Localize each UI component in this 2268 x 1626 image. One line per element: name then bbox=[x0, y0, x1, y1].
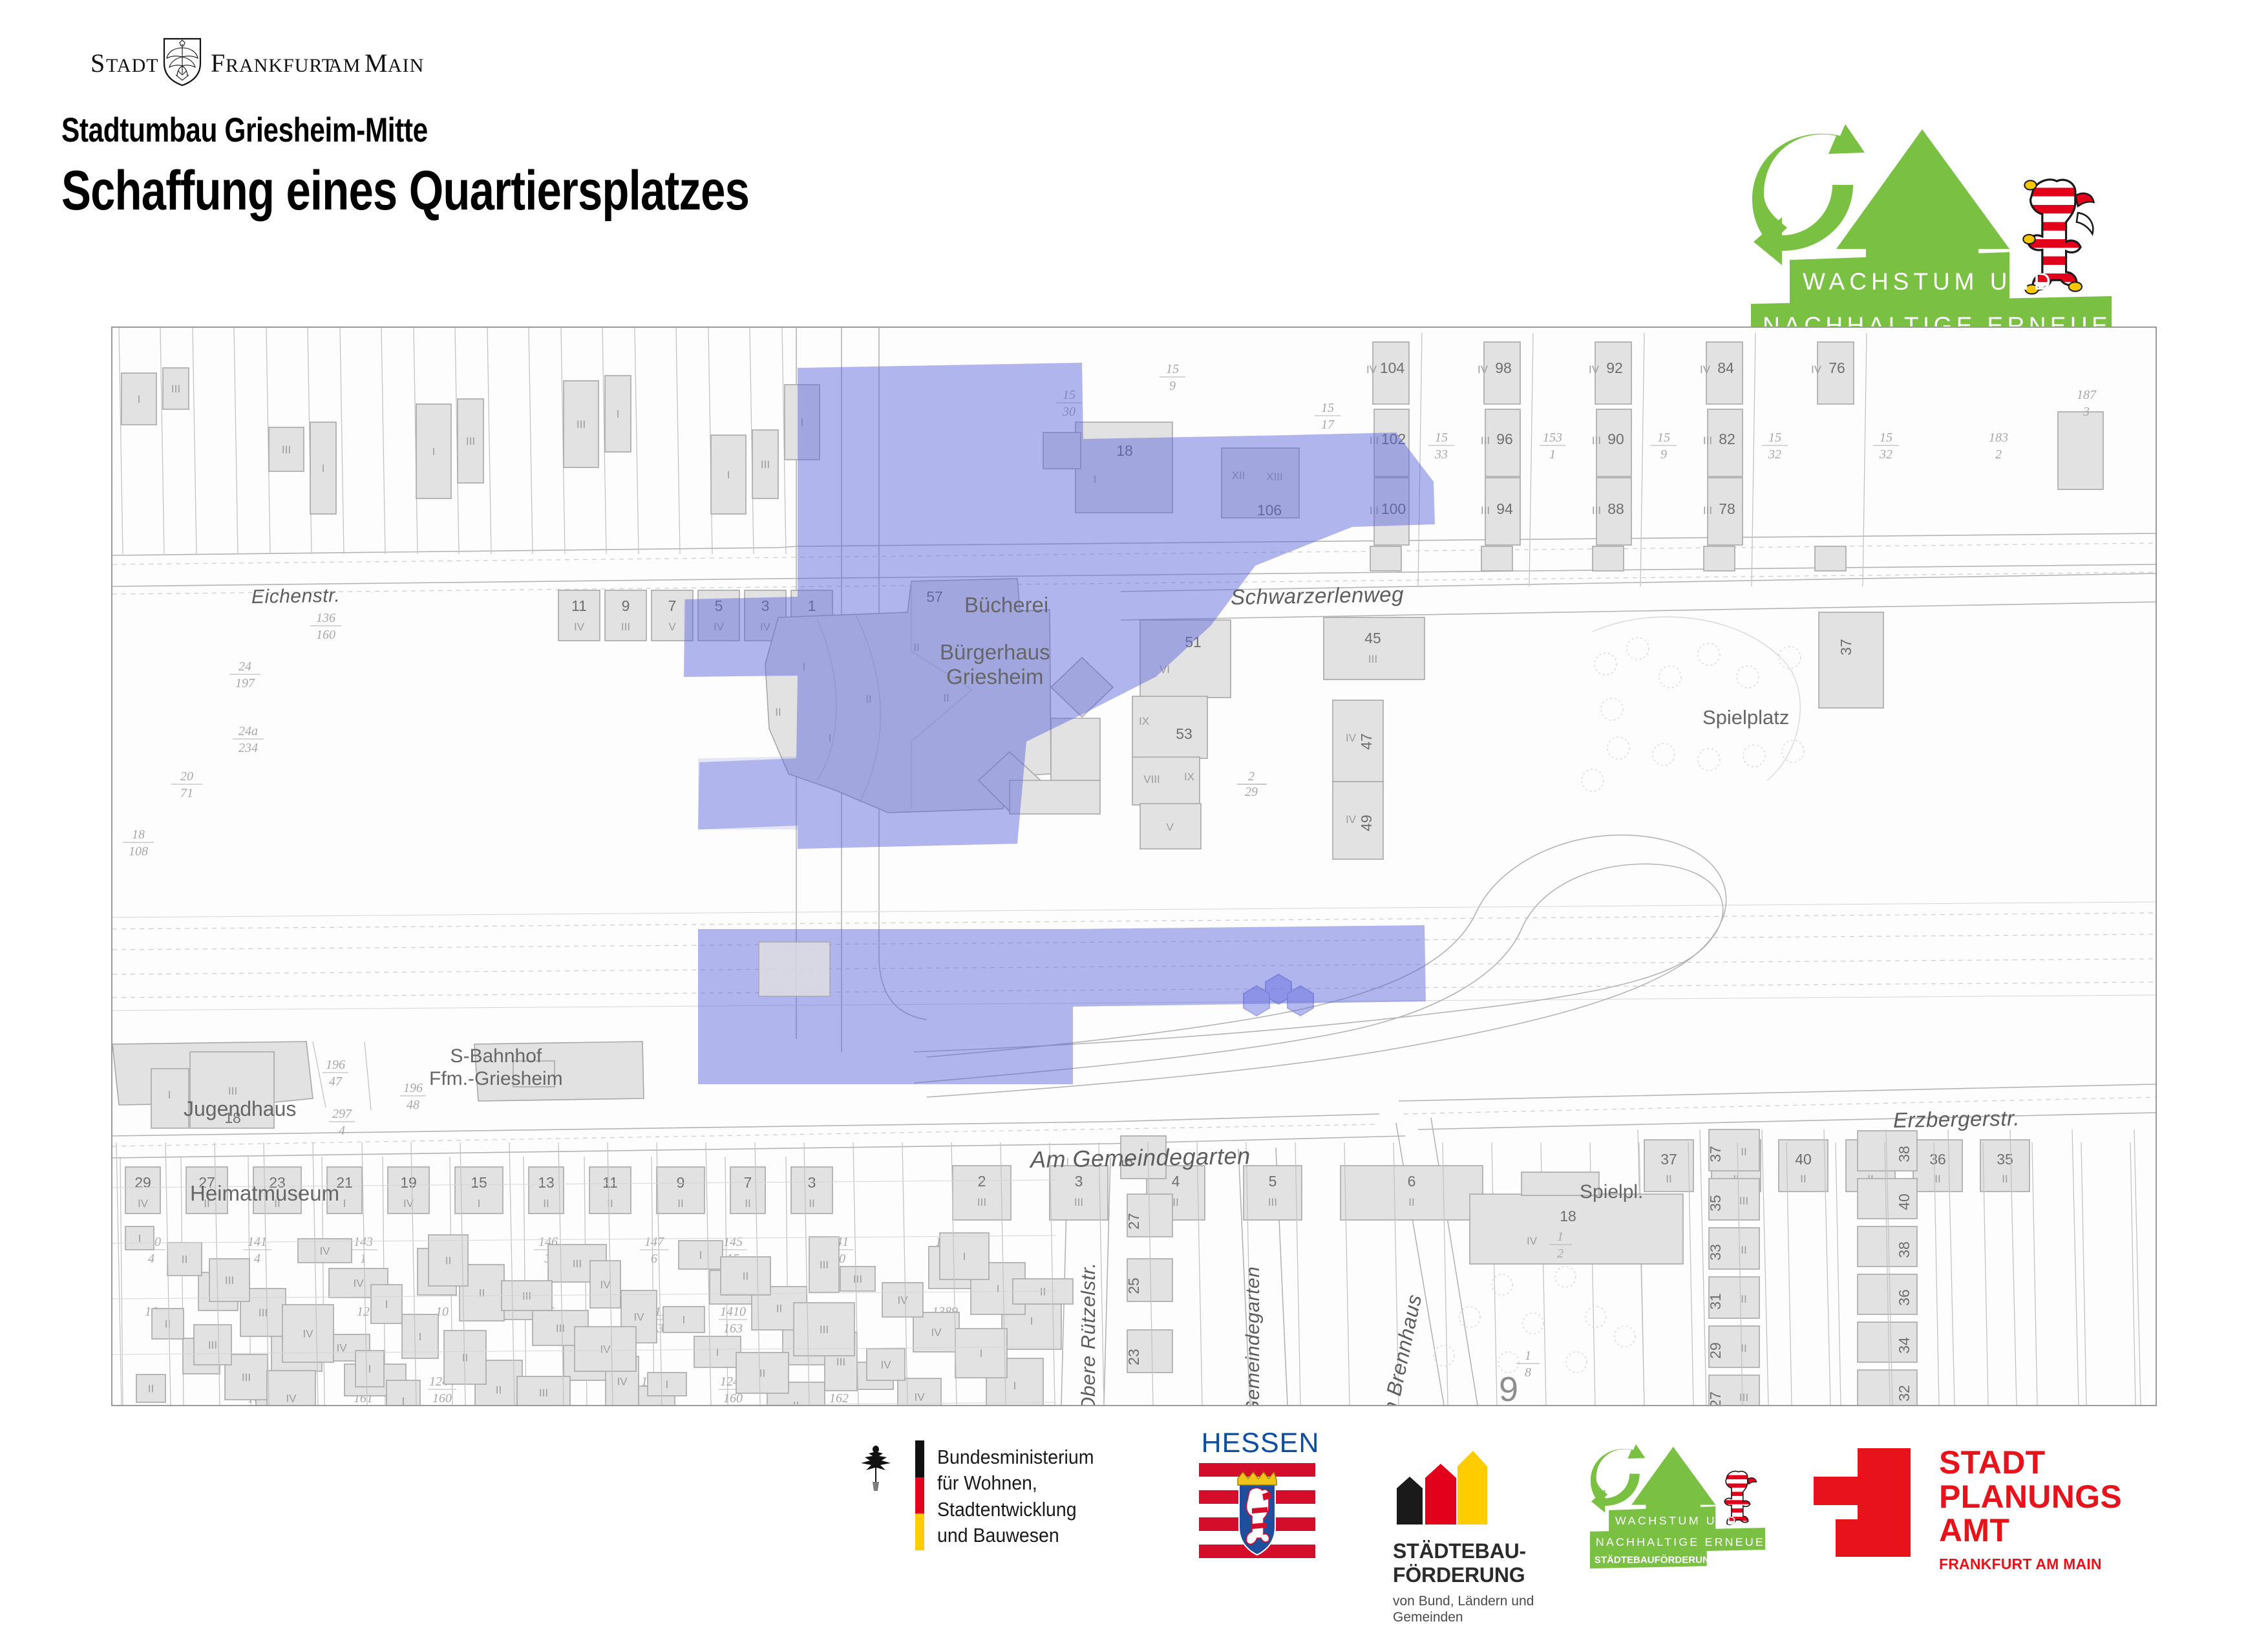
bundesadler-icon bbox=[853, 1442, 898, 1499]
svg-text:38: 38 bbox=[1896, 1241, 1913, 1258]
svg-text:III: III bbox=[259, 1307, 268, 1319]
svg-text:AM: AM bbox=[328, 55, 361, 76]
svg-text:71: 71 bbox=[180, 786, 193, 800]
bm-line3: und Bauwesen bbox=[937, 1523, 1169, 1548]
svg-text:147: 147 bbox=[644, 1235, 664, 1249]
poi-label-spielplatz: Spielplatz bbox=[1702, 706, 1789, 729]
sbf-title-line1: STÄDTEBAU- bbox=[1393, 1539, 1580, 1563]
svg-text:IV: IV bbox=[1700, 363, 1711, 376]
svg-text:I: I bbox=[343, 1197, 346, 1210]
svg-text:III: III bbox=[853, 1273, 862, 1285]
svg-text:IV: IV bbox=[353, 1278, 364, 1290]
svg-text:I: I bbox=[980, 1347, 983, 1360]
svg-text:III: III bbox=[171, 383, 180, 395]
spa-sub: FRANKFURT AM MAIN bbox=[1939, 1556, 2122, 1572]
svg-text:II: II bbox=[165, 1318, 171, 1331]
svg-text:I: I bbox=[963, 1250, 966, 1263]
map-canvas[interactable]: .pn { font-family:"Liberation Serif", se… bbox=[112, 328, 2156, 1405]
svg-text:II: II bbox=[793, 1400, 799, 1406]
svg-text:III: III bbox=[1592, 504, 1601, 517]
svg-text:II: II bbox=[1741, 1146, 1746, 1158]
svg-text:5: 5 bbox=[1269, 1173, 1277, 1190]
svg-text:F: F bbox=[211, 48, 225, 78]
svg-text:I: I bbox=[322, 462, 325, 475]
svg-text:25: 25 bbox=[1125, 1278, 1142, 1294]
svg-text:II: II bbox=[607, 1197, 613, 1210]
svg-text:76: 76 bbox=[1828, 359, 1845, 376]
program-banner-1: WACHSTUM UND bbox=[1790, 252, 2055, 305]
svg-text:IV: IV bbox=[1527, 1235, 1538, 1247]
svg-text:13: 13 bbox=[538, 1174, 555, 1191]
svg-text:3: 3 bbox=[1075, 1173, 1083, 1190]
svg-text:III: III bbox=[977, 1196, 986, 1208]
svg-text:2: 2 bbox=[1557, 1246, 1563, 1261]
svg-text:33: 33 bbox=[1434, 447, 1448, 462]
svg-text:9: 9 bbox=[1499, 1370, 1518, 1405]
svg-text:34: 34 bbox=[1896, 1337, 1913, 1354]
svg-text:I: I bbox=[432, 445, 436, 458]
svg-text:III: III bbox=[1481, 504, 1490, 517]
svg-text:III: III bbox=[556, 1322, 565, 1334]
svg-text:88: 88 bbox=[1607, 500, 1624, 517]
svg-text:III: III bbox=[836, 1356, 845, 1368]
svg-text:III: III bbox=[1074, 1196, 1083, 1208]
sbf-title-line2: FÖRDERUNG bbox=[1393, 1563, 1580, 1587]
svg-text:III: III bbox=[1368, 653, 1377, 665]
svg-text:84: 84 bbox=[1717, 359, 1734, 376]
poi-label-heimatmuseum: Heimatmuseum bbox=[190, 1181, 339, 1206]
logo-wachstum-footer: WACHSTUM UND NACHHALTIGE ERNEUERUNG STÄD… bbox=[1590, 1442, 1810, 1574]
logo-hessen: HESSEN bbox=[1199, 1428, 1322, 1563]
bm-line2: für Wohnen, Stadtentwicklung bbox=[937, 1470, 1169, 1523]
svg-text:78: 78 bbox=[1719, 500, 1735, 517]
spa-line2: PLANUNGS bbox=[1939, 1480, 2122, 1514]
svg-text:2: 2 bbox=[1995, 447, 2002, 462]
svg-text:IV: IV bbox=[600, 1343, 611, 1356]
svg-text:15: 15 bbox=[1880, 431, 1892, 445]
bm-line1: Bundesministerium bbox=[937, 1444, 1169, 1470]
map-vector-layer: .pn { font-family:"Liberation Serif", se… bbox=[112, 328, 2156, 1405]
svg-text:145: 145 bbox=[723, 1235, 743, 1249]
svg-text:AIN: AIN bbox=[388, 55, 424, 76]
svg-text:III: III bbox=[522, 1290, 531, 1302]
svg-text:3: 3 bbox=[808, 1174, 816, 1191]
svg-text:94: 94 bbox=[1496, 500, 1513, 517]
svg-text:TADT: TADT bbox=[106, 55, 159, 76]
svg-text:1: 1 bbox=[360, 1252, 366, 1266]
svg-text:II: II bbox=[775, 706, 781, 718]
page-footer: Bundesministerium für Wohnen, Stadtentwi… bbox=[0, 1416, 2268, 1603]
svg-text:4: 4 bbox=[1172, 1173, 1180, 1190]
svg-text:15: 15 bbox=[1768, 431, 1781, 445]
street-label-am-gemeindegarten: Am Gemeindegarten bbox=[1242, 1267, 1264, 1406]
svg-text:49: 49 bbox=[1358, 815, 1375, 831]
svg-text:1: 1 bbox=[1525, 1349, 1531, 1363]
svg-text:III: III bbox=[761, 458, 770, 471]
svg-text:162: 162 bbox=[829, 1391, 849, 1405]
svg-text:IX: IX bbox=[1184, 771, 1194, 783]
svg-text:IV: IV bbox=[286, 1393, 297, 1405]
svg-text:IX: IX bbox=[1139, 715, 1149, 727]
svg-text:31: 31 bbox=[1707, 1293, 1724, 1310]
svg-text:96: 96 bbox=[1496, 431, 1513, 447]
svg-text:II: II bbox=[182, 1254, 187, 1266]
svg-text:I: I bbox=[683, 1314, 686, 1326]
svg-text:I: I bbox=[1013, 1380, 1017, 1392]
poi-label-b-cherei: Bücherei bbox=[964, 593, 1048, 617]
svg-text:4: 4 bbox=[339, 1124, 345, 1138]
svg-text:15: 15 bbox=[1166, 362, 1179, 376]
svg-text:II: II bbox=[445, 1255, 451, 1267]
svg-text:M: M bbox=[365, 48, 388, 78]
svg-text:92: 92 bbox=[1606, 359, 1623, 376]
svg-text:15: 15 bbox=[1435, 431, 1448, 445]
svg-text:II: II bbox=[1666, 1173, 1671, 1185]
svg-text:IV: IV bbox=[880, 1359, 891, 1371]
svg-text:III: III bbox=[242, 1371, 251, 1384]
svg-text:IV: IV bbox=[1589, 363, 1600, 376]
svg-text:IV: IV bbox=[897, 1294, 908, 1307]
svg-text:II: II bbox=[759, 1367, 765, 1380]
svg-text:2: 2 bbox=[978, 1173, 986, 1190]
svg-text:IV: IV bbox=[1346, 732, 1357, 744]
svg-text:297: 297 bbox=[332, 1107, 352, 1121]
svg-text:40: 40 bbox=[1795, 1151, 1812, 1168]
svg-text:11: 11 bbox=[571, 597, 587, 614]
svg-text:III: III bbox=[208, 1339, 217, 1351]
poi-label-b-rgerhaus: Bürgerhaus Griesheim bbox=[940, 640, 1050, 689]
street-label-erzbergerstr: Erzbergerstr. bbox=[1893, 1106, 2020, 1133]
title-block: Stadtumbau Griesheim-Mitte Schaffung ein… bbox=[61, 113, 921, 219]
wachstum-footer-line1: WACHSTUM UND bbox=[1615, 1514, 1738, 1527]
svg-text:VIII: VIII bbox=[1143, 773, 1160, 786]
svg-text:II: II bbox=[745, 1197, 750, 1210]
street-label-schwarzerlenweg: Schwarzerlenweg bbox=[1231, 582, 1404, 610]
svg-text:I: I bbox=[419, 1331, 422, 1343]
street-label-am-gemeindegarten: Am Gemeindegarten bbox=[1030, 1142, 1251, 1173]
svg-text:RANKFURT: RANKFURT bbox=[226, 55, 334, 76]
svg-text:9: 9 bbox=[1660, 447, 1667, 462]
svg-text:II: II bbox=[148, 1383, 154, 1395]
svg-text:I: I bbox=[402, 1395, 405, 1405]
svg-text:32: 32 bbox=[1896, 1385, 1913, 1402]
street-label-obere-r-tzelstr: Obere Rützelstr. bbox=[1077, 1262, 1100, 1406]
svg-text:IV: IV bbox=[319, 1245, 330, 1257]
wachstum-footer-line2: NACHHALTIGE ERNEUERUNG bbox=[1596, 1535, 1808, 1548]
svg-text:I: I bbox=[727, 469, 730, 481]
svg-text:1410: 1410 bbox=[720, 1305, 746, 1319]
svg-text:1: 1 bbox=[1557, 1230, 1563, 1244]
poi-label-s-bahnhof: S-Bahnhof Ffm.-Griesheim bbox=[429, 1045, 563, 1090]
three-houses-icon bbox=[1393, 1448, 1487, 1526]
svg-text:I: I bbox=[385, 1298, 388, 1310]
svg-text:III: III bbox=[1703, 504, 1712, 517]
svg-text:IV: IV bbox=[914, 1391, 925, 1404]
wachstum-footer-line3: STÄDTEBAUFÖRDERUNG HESSEN bbox=[1595, 1554, 1760, 1565]
svg-text:V: V bbox=[1166, 821, 1174, 833]
svg-text:163: 163 bbox=[723, 1321, 743, 1336]
svg-text:I: I bbox=[1030, 1315, 1033, 1327]
svg-text:37: 37 bbox=[1838, 639, 1854, 656]
svg-text:S: S bbox=[90, 48, 105, 78]
svg-text:15: 15 bbox=[471, 1174, 487, 1191]
svg-text:III: III bbox=[820, 1323, 829, 1336]
svg-text:IV: IV bbox=[633, 1311, 644, 1323]
svg-text:I: I bbox=[666, 1378, 669, 1391]
svg-text:136: 136 bbox=[316, 611, 335, 625]
svg-text:17: 17 bbox=[1321, 418, 1335, 432]
svg-text:48: 48 bbox=[407, 1098, 419, 1112]
poi-label-spielpl: Spielpl. bbox=[1580, 1181, 1643, 1204]
hessen-coat-of-arms-icon bbox=[1199, 1463, 1315, 1560]
svg-text:37: 37 bbox=[1707, 1146, 1724, 1162]
svg-text:12: 12 bbox=[357, 1305, 370, 1319]
svg-text:15: 15 bbox=[1321, 401, 1334, 415]
logo-staedtebaufoerderung: STÄDTEBAU- FÖRDERUNG von Bund, Ländern u… bbox=[1393, 1448, 1580, 1626]
svg-text:98: 98 bbox=[1495, 359, 1512, 376]
svg-text:104: 104 bbox=[1380, 359, 1405, 376]
svg-text:9: 9 bbox=[622, 597, 630, 614]
svg-text:II: II bbox=[1408, 1196, 1414, 1208]
svg-text:III: III bbox=[1481, 434, 1490, 447]
svg-text:82: 82 bbox=[1719, 431, 1735, 447]
svg-text:III: III bbox=[539, 1387, 548, 1399]
svg-text:II: II bbox=[809, 1197, 814, 1210]
svg-text:27: 27 bbox=[1707, 1391, 1724, 1405]
svg-text:I: I bbox=[617, 408, 620, 420]
svg-text:3: 3 bbox=[2083, 405, 2090, 419]
poi-label-jugendhaus: Jugendhaus bbox=[184, 1097, 296, 1121]
svg-text:I: I bbox=[478, 1197, 481, 1210]
svg-text:IV: IV bbox=[302, 1328, 313, 1340]
svg-text:II: II bbox=[1800, 1173, 1806, 1185]
svg-text:24a: 24a bbox=[238, 724, 258, 738]
svg-text:III: III bbox=[820, 1259, 829, 1271]
svg-text:53: 53 bbox=[1176, 725, 1192, 742]
svg-text:183: 183 bbox=[1989, 431, 2008, 445]
svg-text:I: I bbox=[699, 1249, 703, 1261]
stadtplanungsamt-mark-icon bbox=[1810, 1446, 1913, 1559]
svg-text:III: III bbox=[573, 1257, 582, 1270]
svg-text:11: 11 bbox=[602, 1174, 618, 1191]
svg-text:III: III bbox=[621, 621, 630, 633]
svg-text:IV: IV bbox=[1346, 813, 1357, 826]
svg-text:234: 234 bbox=[238, 741, 258, 755]
svg-text:23: 23 bbox=[1125, 1349, 1142, 1365]
svg-text:33: 33 bbox=[1707, 1244, 1724, 1261]
svg-text:I: I bbox=[138, 393, 141, 405]
svg-text:III: III bbox=[1739, 1195, 1748, 1207]
svg-text:35: 35 bbox=[1707, 1195, 1724, 1212]
svg-text:32: 32 bbox=[1768, 447, 1781, 462]
sbf-sub-line2: Gemeinden bbox=[1393, 1609, 1580, 1626]
svg-text:III: III bbox=[1592, 434, 1601, 447]
svg-text:I: I bbox=[716, 1346, 719, 1358]
svg-text:143: 143 bbox=[354, 1235, 373, 1249]
svg-text:29: 29 bbox=[1245, 785, 1258, 799]
svg-text:196: 196 bbox=[326, 1058, 345, 1072]
svg-text:IV: IV bbox=[1478, 363, 1489, 376]
svg-text:4: 4 bbox=[148, 1252, 154, 1266]
svg-text:9: 9 bbox=[677, 1174, 685, 1191]
page-header: S TADT F RANKFURT AM M bbox=[0, 0, 2268, 304]
svg-text:4: 4 bbox=[254, 1252, 260, 1266]
svg-text:III: III bbox=[228, 1085, 237, 1097]
svg-text:153: 153 bbox=[1543, 431, 1562, 445]
svg-text:27: 27 bbox=[1125, 1213, 1142, 1230]
svg-text:197: 197 bbox=[235, 676, 255, 690]
svg-text:187: 187 bbox=[2077, 388, 2097, 402]
svg-text:6: 6 bbox=[651, 1252, 657, 1266]
svg-text:V: V bbox=[668, 621, 676, 633]
svg-text:29: 29 bbox=[1707, 1342, 1724, 1359]
svg-text:90: 90 bbox=[1607, 431, 1624, 447]
svg-text:IV: IV bbox=[600, 1279, 611, 1291]
svg-text:32: 32 bbox=[1879, 447, 1892, 462]
svg-text:II: II bbox=[1741, 1244, 1746, 1256]
svg-text:II: II bbox=[1741, 1293, 1746, 1305]
page-subtitle: Stadtumbau Griesheim-Mitte bbox=[61, 113, 749, 147]
svg-text:II: II bbox=[462, 1352, 468, 1364]
svg-text:160: 160 bbox=[432, 1391, 452, 1405]
svg-text:II: II bbox=[496, 1384, 502, 1396]
svg-text:19: 19 bbox=[400, 1174, 417, 1191]
svg-text:II: II bbox=[743, 1270, 748, 1283]
svg-text:15: 15 bbox=[1657, 431, 1670, 445]
svg-text:2: 2 bbox=[1248, 769, 1255, 784]
svg-text:III: III bbox=[466, 435, 475, 447]
svg-text:IV: IV bbox=[1366, 363, 1377, 376]
svg-text:47: 47 bbox=[329, 1075, 343, 1089]
svg-text:II: II bbox=[677, 1197, 683, 1210]
svg-text:III: III bbox=[1268, 1196, 1277, 1208]
svg-text:III: III bbox=[1703, 434, 1712, 447]
svg-text:9: 9 bbox=[1169, 379, 1176, 393]
cadastral-map[interactable]: .pn { font-family:"Liberation Serif", se… bbox=[111, 326, 2157, 1406]
svg-text:6: 6 bbox=[1408, 1173, 1416, 1190]
spa-line1: STADT bbox=[1939, 1446, 2122, 1480]
svg-text:IV: IV bbox=[931, 1327, 942, 1339]
svg-text:II: II bbox=[2002, 1173, 2008, 1185]
svg-text:II: II bbox=[543, 1197, 549, 1210]
frankfurt-eagle-crest-icon: S TADT F RANKFURT AM M bbox=[90, 36, 504, 86]
svg-text:7: 7 bbox=[668, 597, 677, 614]
svg-text:II: II bbox=[776, 1303, 782, 1315]
svg-text:37: 37 bbox=[1660, 1151, 1677, 1168]
svg-text:160: 160 bbox=[316, 628, 335, 642]
svg-text:108: 108 bbox=[129, 844, 148, 859]
svg-text:III: III bbox=[1739, 1391, 1748, 1404]
svg-text:45: 45 bbox=[1364, 630, 1381, 647]
svg-text:I: I bbox=[368, 1363, 372, 1375]
program-line1: WACHSTUM UND bbox=[1803, 268, 2055, 295]
svg-text:1: 1 bbox=[1549, 447, 1556, 462]
svg-text:II: II bbox=[1172, 1196, 1178, 1208]
svg-text:20: 20 bbox=[180, 769, 193, 784]
svg-text:40: 40 bbox=[1896, 1193, 1913, 1210]
svg-text:18: 18 bbox=[132, 828, 145, 842]
svg-text:24: 24 bbox=[238, 659, 251, 674]
svg-text:47: 47 bbox=[1358, 733, 1375, 750]
svg-text:II: II bbox=[1934, 1173, 1940, 1185]
svg-text:8: 8 bbox=[1525, 1365, 1531, 1380]
svg-text:38: 38 bbox=[1896, 1146, 1913, 1162]
svg-text:III: III bbox=[577, 418, 586, 431]
svg-text:IV: IV bbox=[574, 621, 585, 633]
svg-text:IV: IV bbox=[138, 1197, 149, 1210]
svg-text:18: 18 bbox=[1560, 1208, 1576, 1225]
svg-text:III: III bbox=[282, 444, 291, 456]
hessen-word: HESSEN bbox=[1199, 1428, 1322, 1459]
svg-text:I: I bbox=[997, 1283, 1000, 1295]
svg-text:I: I bbox=[168, 1089, 171, 1101]
sbf-sub-line1: von Bund, Ländern und bbox=[1393, 1593, 1580, 1610]
svg-text:II: II bbox=[479, 1287, 485, 1300]
svg-text:36: 36 bbox=[1896, 1289, 1913, 1306]
german-flag-bar-icon bbox=[915, 1440, 924, 1550]
city-logo: S TADT F RANKFURT AM M bbox=[90, 36, 504, 86]
svg-text:IV: IV bbox=[617, 1376, 628, 1388]
svg-text:36: 36 bbox=[1929, 1151, 1946, 1168]
svg-text:II: II bbox=[1040, 1286, 1046, 1298]
svg-text:IV: IV bbox=[1811, 363, 1822, 376]
spa-line3: AMT bbox=[1939, 1514, 2122, 1548]
street-label-eichenstr: Eichenstr. bbox=[251, 585, 341, 608]
page-title: Schaffung eines Quartiersplatzes bbox=[61, 163, 749, 219]
svg-text:196: 196 bbox=[403, 1081, 423, 1095]
svg-text:29: 29 bbox=[134, 1174, 151, 1191]
svg-text:III: III bbox=[225, 1274, 234, 1287]
